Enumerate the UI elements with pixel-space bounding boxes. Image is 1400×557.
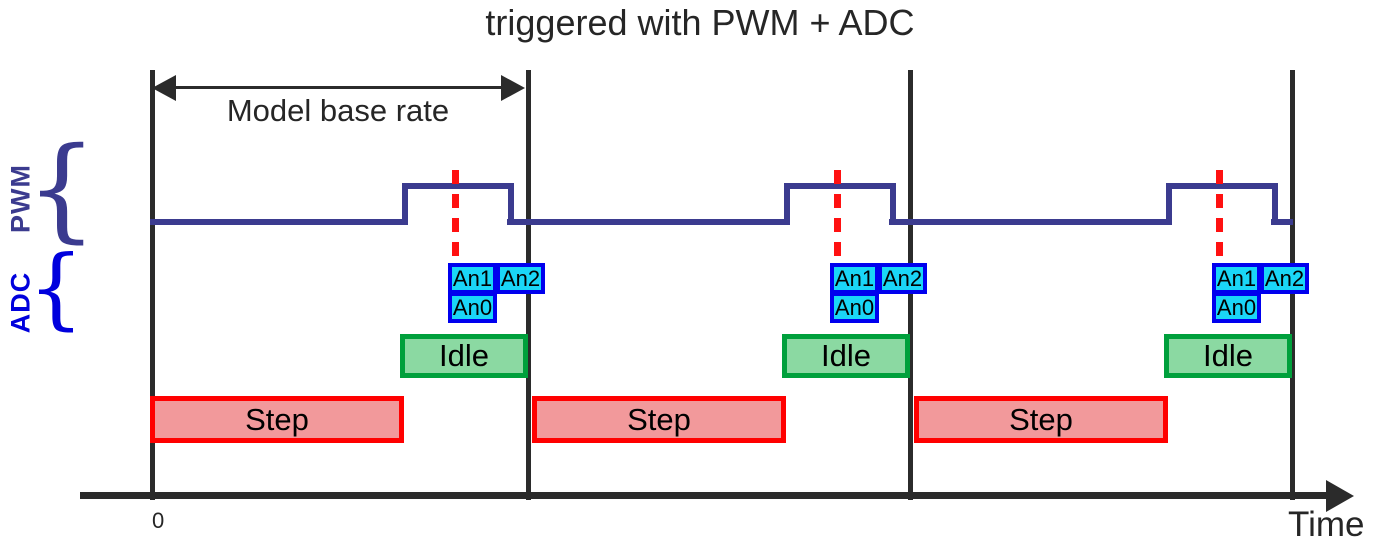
adc-block-an0[interactable]: An0: [448, 292, 497, 323]
adc-block-an1[interactable]: An1: [1212, 263, 1261, 294]
pwm-brace-icon: {: [26, 133, 97, 245]
pwm-falling-edge-2: [1272, 183, 1278, 225]
step-block[interactable]: Step: [532, 396, 786, 443]
idle-block-label: Idle: [821, 338, 871, 374]
pwm-rising-edge-2: [1166, 183, 1172, 225]
pwm-falling-edge-0: [508, 183, 514, 225]
pwm-rising-edge-1: [784, 183, 790, 225]
step-block-label: Step: [627, 402, 691, 438]
adc-block-label: An1: [835, 266, 874, 292]
adc-block-an1[interactable]: An1: [830, 263, 879, 294]
adc-trigger-line-2: [1216, 170, 1223, 270]
adc-brace-icon: {: [28, 244, 84, 332]
axis-origin-label: 0: [152, 508, 164, 534]
pwm-rising-edge-0: [402, 183, 408, 225]
measure-label: Model base rate: [150, 93, 526, 129]
pwm-low-segment-2: [889, 219, 1169, 225]
step-block-label: Step: [245, 402, 309, 438]
idle-block-label: Idle: [1203, 338, 1253, 374]
adc-block-label: An2: [883, 266, 922, 292]
step-block-label: Step: [1009, 402, 1073, 438]
adc-block-an2[interactable]: An2: [878, 263, 927, 294]
idle-block[interactable]: Idle: [1164, 334, 1292, 378]
adc-block-label: An2: [501, 266, 540, 292]
pwm-falling-edge-1: [890, 183, 896, 225]
adc-block-label: An1: [1217, 266, 1256, 292]
idle-block[interactable]: Idle: [400, 334, 528, 378]
timing-diagram-canvas: triggered with PWM + ADC PWM { ADC { Mod…: [0, 0, 1400, 557]
page-title: triggered with PWM + ADC: [0, 2, 1400, 44]
pwm-low-segment-0: [150, 219, 405, 225]
adc-block-label: An0: [835, 295, 874, 321]
adc-block-label: An1: [453, 266, 492, 292]
adc-block-an0[interactable]: An0: [1212, 292, 1261, 323]
idle-block[interactable]: Idle: [782, 334, 910, 378]
adc-block-label: An2: [1265, 266, 1304, 292]
pwm-low-segment-1: [507, 219, 787, 225]
adc-trigger-line-1: [834, 170, 841, 270]
time-axis-label: Time: [1288, 505, 1364, 545]
adc-block-an0[interactable]: An0: [830, 292, 879, 323]
step-block[interactable]: Step: [150, 396, 404, 443]
adc-trigger-line-0: [452, 170, 459, 270]
measure-span-line: [172, 86, 506, 89]
idle-block-label: Idle: [439, 338, 489, 374]
adc-block-an1[interactable]: An1: [448, 263, 497, 294]
adc-block-an2[interactable]: An2: [1260, 263, 1309, 294]
adc-block-label: An0: [453, 295, 492, 321]
time-axis-line: [80, 492, 1335, 499]
adc-block-an2[interactable]: An2: [496, 263, 545, 294]
adc-block-label: An0: [1217, 295, 1256, 321]
step-block[interactable]: Step: [914, 396, 1168, 443]
